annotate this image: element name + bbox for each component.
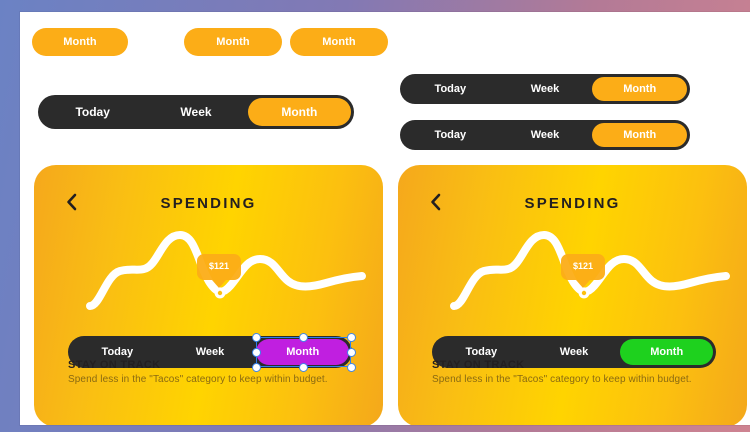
period-toggle-right-top-item-week[interactable]: Week bbox=[498, 77, 593, 101]
resize-handle-se[interactable] bbox=[347, 363, 356, 372]
month-pill-1[interactable]: Month bbox=[32, 28, 128, 56]
footer-title: STAY ON TRACK bbox=[432, 359, 727, 371]
label: Month bbox=[286, 346, 319, 358]
card-left-footer: STAY ON TRACK Spend less in the "Tacos" … bbox=[68, 359, 363, 385]
label: Month bbox=[281, 105, 317, 119]
label: Week bbox=[531, 129, 560, 141]
period-toggle-right-top-item-month[interactable]: Month bbox=[592, 77, 687, 101]
period-toggle-large-item-today[interactable]: Today bbox=[41, 98, 144, 126]
footer-subtitle: Spend less in the "Tacos" category to ke… bbox=[68, 374, 363, 385]
period-toggle-large[interactable]: Today Week Month bbox=[38, 95, 354, 129]
label: Today bbox=[435, 129, 467, 141]
card-left-clip: SPENDING $121 Toda bbox=[34, 165, 383, 425]
label: Today bbox=[75, 105, 109, 119]
label: Week bbox=[560, 346, 589, 358]
period-toggle-right-top-item-today[interactable]: Today bbox=[403, 77, 498, 101]
resize-handle-s[interactable] bbox=[299, 363, 308, 372]
period-toggle-right-bottom-item-week[interactable]: Week bbox=[498, 123, 593, 147]
label: Week bbox=[196, 346, 225, 358]
month-pill-2-label: Month bbox=[216, 36, 249, 48]
label: Today bbox=[102, 346, 134, 358]
label: Month bbox=[623, 129, 656, 141]
tooltip-value-right: $121 bbox=[573, 261, 593, 271]
resize-handle-sw[interactable] bbox=[252, 363, 261, 372]
page-title: SPENDING bbox=[525, 195, 621, 212]
month-pill-2[interactable]: Month bbox=[184, 28, 282, 56]
month-pill-3[interactable]: Month bbox=[290, 28, 388, 56]
resize-handle-n[interactable] bbox=[299, 333, 308, 342]
month-pill-1-label: Month bbox=[63, 36, 96, 48]
period-toggle-right-bottom-item-today[interactable]: Today bbox=[403, 123, 498, 147]
page-title: SPENDING bbox=[161, 195, 257, 212]
period-toggle-right-bottom-item-month[interactable]: Month bbox=[592, 123, 687, 147]
label: Week bbox=[531, 83, 560, 95]
spending-chart-left: $121 bbox=[34, 213, 383, 321]
label: Today bbox=[466, 346, 498, 358]
label: Month bbox=[650, 346, 683, 358]
design-canvas[interactable]: Month Month Month Today Week Month Today bbox=[20, 12, 750, 425]
resize-handle-w[interactable] bbox=[252, 348, 261, 357]
resize-handle-ne[interactable] bbox=[347, 333, 356, 342]
footer-title: STAY ON TRACK bbox=[68, 359, 363, 371]
card-right-footer: STAY ON TRACK Spend less in the "Tacos" … bbox=[432, 359, 727, 385]
spending-card-left[interactable]: SPENDING $121 Toda bbox=[34, 165, 383, 425]
period-toggle-large-item-week[interactable]: Week bbox=[144, 98, 247, 126]
label: Week bbox=[180, 105, 211, 119]
month-pill-3-label: Month bbox=[322, 36, 355, 48]
tooltip-value-left: $121 bbox=[209, 261, 229, 271]
label: Month bbox=[623, 83, 656, 95]
card-right-clip: SPENDING $121 Today bbox=[398, 165, 747, 425]
resize-handle-e[interactable] bbox=[347, 348, 356, 357]
screen: Month Month Month Today Week Month Today bbox=[0, 0, 750, 432]
spending-card-right[interactable]: SPENDING $121 Today bbox=[398, 165, 747, 425]
period-toggle-right-bottom[interactable]: Today Week Month bbox=[400, 120, 690, 150]
period-toggle-right-top[interactable]: Today Week Month bbox=[400, 74, 690, 104]
spending-chart-right: $121 bbox=[398, 213, 747, 321]
period-toggle-large-item-month[interactable]: Month bbox=[248, 98, 351, 126]
resize-handle-nw[interactable] bbox=[252, 333, 261, 342]
footer-subtitle: Spend less in the "Tacos" category to ke… bbox=[432, 374, 727, 385]
label: Today bbox=[435, 83, 467, 95]
